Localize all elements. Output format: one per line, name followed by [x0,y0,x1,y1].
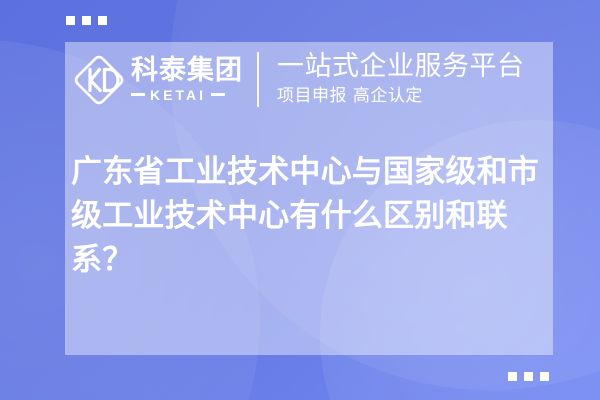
decorative-dots-bottom-right [508,372,549,381]
right-dash-icon [211,93,225,96]
header-divider [257,52,259,107]
square-dot-icon [524,372,533,381]
square-dot-icon [98,16,107,25]
square-dot-icon [66,16,75,25]
tagline-secondary: 项目申报 高企认定 [277,86,525,106]
square-dot-icon [82,16,91,25]
content-panel: 科泰集团 KETAI 一站式企业服务平台 项目申报 高企认定 广东省工业技术中心… [65,42,553,355]
brand-name-en: KETAI [150,88,206,102]
brand-wordmark: 科泰集团 KETAI [131,57,243,102]
square-dot-icon [540,372,549,381]
square-dot-icon [508,372,517,381]
article-title: 广东省工业技术中心与国家级和市级工业技术中心有什么区别和联系？ [71,150,549,282]
banner-header: 科泰集团 KETAI 一站式企业服务平台 项目申报 高企认定 [65,42,553,117]
brand-logo[interactable]: 科泰集团 KETAI [69,54,243,106]
tagline-block: 一站式企业服务平台 项目申报 高企认定 [277,52,525,106]
tagline-primary: 一站式企业服务平台 [277,52,525,82]
decorative-dots-top-left [66,16,107,25]
left-dash-icon [131,93,145,96]
brand-name-cn: 科泰集团 [131,57,243,85]
kd-diamond-logo-icon [73,54,125,106]
brand-name-en-row: KETAI [131,88,243,102]
promo-banner: 科泰集团 KETAI 一站式企业服务平台 项目申报 高企认定 广东省工业技术中心… [0,0,600,400]
